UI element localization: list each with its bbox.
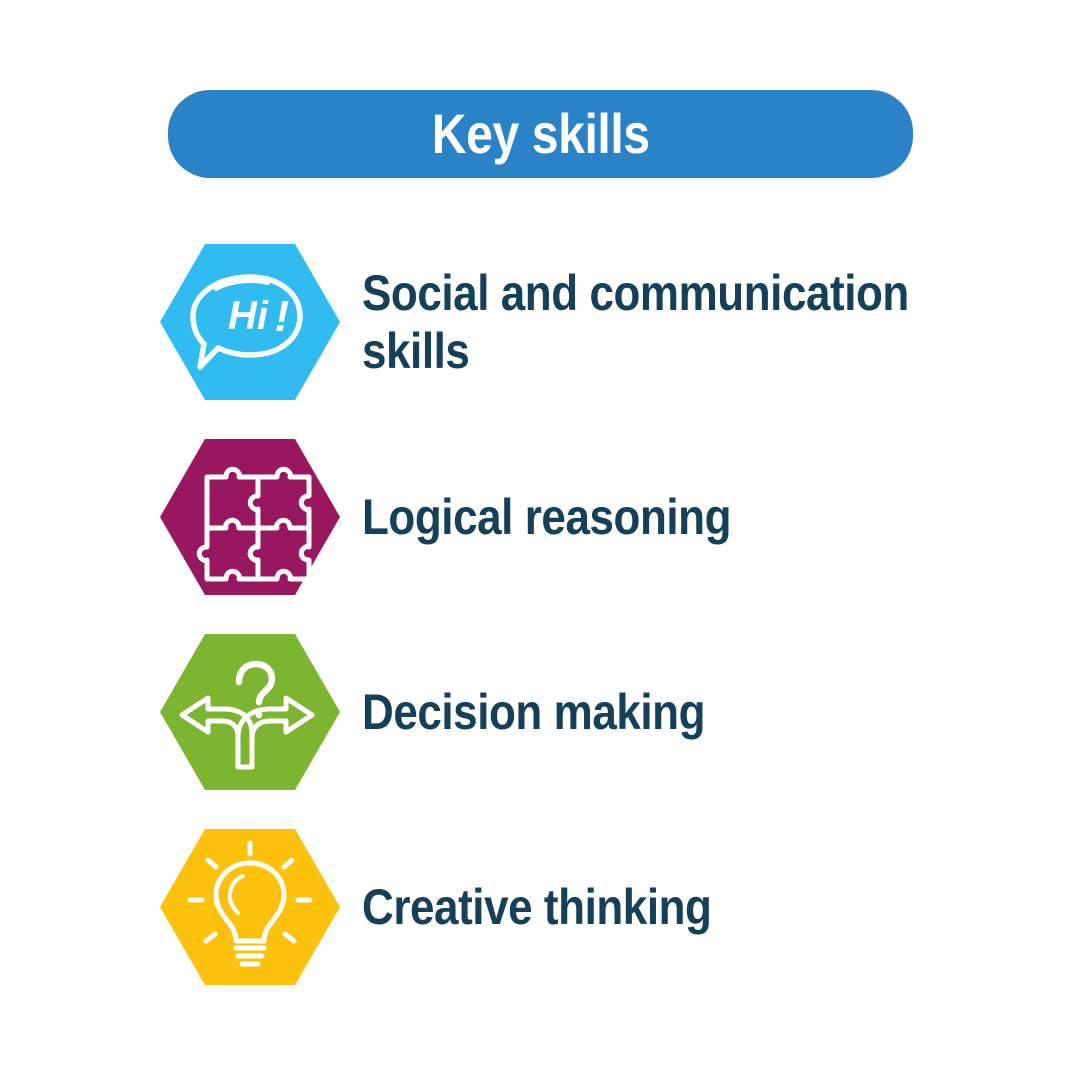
list-item: Logical reasoning [0, 425, 1080, 620]
svg-text:Hi: Hi [228, 294, 269, 338]
header-banner: Key skills [168, 90, 913, 178]
list-item: Decision making [0, 620, 1080, 815]
forked-arrows-question-mark-icon [160, 622, 340, 802]
speech-bubble-hi-icon: Hi ! [160, 232, 340, 412]
lightbulb-icon [160, 817, 340, 997]
list-item-label: Social and communication skills [362, 230, 925, 414]
page-title: Key skills [432, 106, 650, 162]
skills-list: Hi ! Social and communication skills [0, 230, 1080, 1010]
list-item: Hi ! Social and communication skills [0, 230, 1080, 425]
jigsaw-puzzle-icon [160, 427, 340, 607]
list-item-label: Decision making [362, 620, 925, 804]
list-item-label: Creative thinking [362, 815, 925, 999]
list-item-label: Logical reasoning [362, 425, 925, 609]
svg-text:!: ! [275, 292, 290, 341]
key-skills-poster: Key skills Hi ! Social and communica [0, 0, 1080, 1080]
list-item: Creative thinking [0, 815, 1080, 1010]
